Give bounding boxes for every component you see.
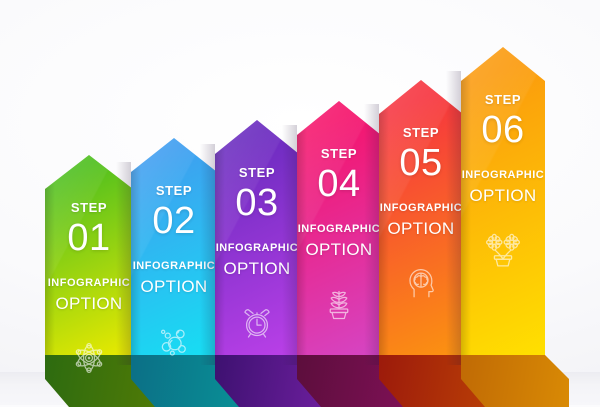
step-column-06[interactable]: STEP06INFOGRAPHICOPTION: [461, 47, 545, 355]
step-panel-02[interactable]: [131, 138, 217, 355]
step-column-05[interactable]: STEP05INFOGRAPHICOPTION: [379, 80, 463, 355]
step-base-06: [461, 355, 569, 407]
infographic-stage: STEP01INFOGRAPHICOPTION STEP02INFOGRAPHI…: [0, 0, 600, 405]
step-panel-06[interactable]: [461, 47, 545, 355]
step-panel-05[interactable]: [379, 80, 463, 355]
step-column-02[interactable]: STEP02INFOGRAPHICOPTION: [131, 138, 217, 355]
step-base-slab: [461, 355, 569, 407]
step-column-03[interactable]: STEP03INFOGRAPHICOPTION: [215, 120, 299, 355]
step-panel-01[interactable]: [45, 155, 133, 355]
step-panel-03[interactable]: [215, 120, 299, 355]
step-column-01[interactable]: STEP01INFOGRAPHICOPTION: [45, 155, 133, 355]
step-column-04[interactable]: STEP04INFOGRAPHICOPTION: [297, 101, 381, 355]
step-panel-04[interactable]: [297, 101, 381, 355]
